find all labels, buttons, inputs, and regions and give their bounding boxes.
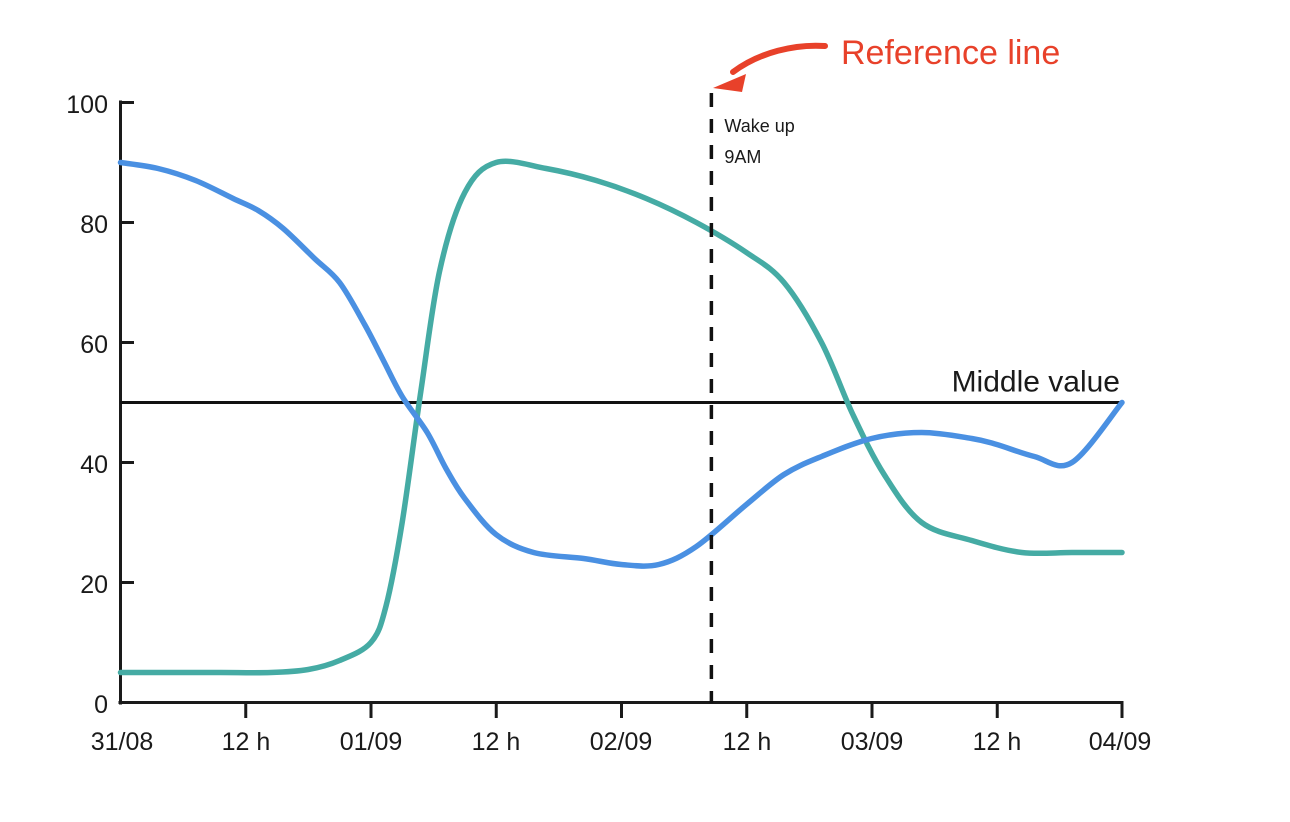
x-axis (120, 688, 1122, 718)
x-tick-label-2: 01/09 (340, 728, 403, 756)
line-chart: 0 20 40 60 80 100 (0, 0, 1290, 822)
wake-up-label-line2: 9AM (724, 147, 761, 167)
x-axis-tick-labels: 31/08 12 h 01/09 12 h 02/09 12 h 03/09 1… (91, 728, 1152, 756)
x-tick-label-7: 12 h (973, 728, 1022, 756)
wake-up-label-line1: Wake up (724, 116, 794, 136)
y-tick-label-20: 20 (80, 571, 108, 599)
blue-series-line (121, 163, 1123, 567)
y-tick-label-80: 80 (80, 211, 108, 239)
y-tick-label-60: 60 (80, 331, 108, 359)
x-tick-label-3: 12 h (472, 728, 521, 756)
chart-canvas: 0 20 40 60 80 100 (0, 0, 1290, 822)
x-tick-label-0: 31/08 (91, 728, 154, 756)
y-tick-label-40: 40 (80, 451, 108, 479)
callout-arrowhead-icon (713, 74, 746, 92)
y-tick-label-0: 0 (94, 691, 108, 719)
callout-label: Reference line (841, 34, 1060, 72)
x-tick-label-8: 04/09 (1089, 728, 1152, 756)
y-axis-tick-labels: 0 20 40 60 80 100 (66, 91, 108, 719)
y-tick-label-100: 100 (66, 91, 108, 119)
x-tick-label-1: 12 h (222, 728, 271, 756)
reference-line-callout: Reference line (713, 34, 1060, 92)
x-tick-label-6: 03/09 (841, 728, 904, 756)
teal-series-line (121, 161, 1123, 672)
x-tick-label-4: 02/09 (590, 728, 653, 756)
x-tick-label-5: 12 h (723, 728, 772, 756)
middle-value-label: Middle value (952, 366, 1120, 399)
callout-arrow-icon (733, 46, 825, 72)
